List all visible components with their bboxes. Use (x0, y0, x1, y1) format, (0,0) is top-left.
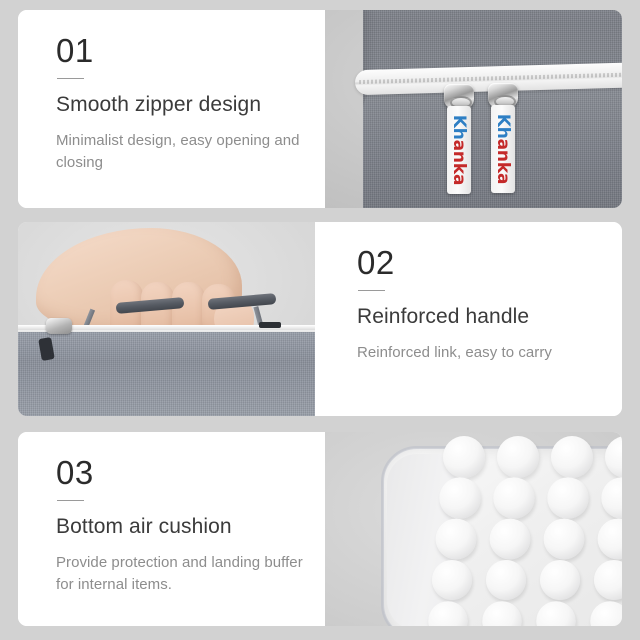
feature-card-01: 01 Smooth zipper design Minimalist desig… (18, 10, 622, 208)
hand-holding-handle-photo (18, 222, 315, 416)
air-cushion-bump-grid (443, 442, 622, 626)
air-cushion-bump (497, 436, 539, 478)
feature-infographic-page: 01 Smooth zipper design Minimalist desig… (0, 0, 640, 640)
brand-pull-tab-right: Khanka (491, 105, 515, 193)
handle-anchor-clip (259, 322, 281, 328)
case-fabric-body (18, 332, 315, 416)
brand-logo: Khanka (449, 115, 469, 185)
step-number: 03 (56, 456, 303, 489)
feature-subline: Reinforced link, easy to carry (357, 342, 600, 364)
air-cushion-bump (490, 519, 531, 560)
air-cushion-bump (493, 477, 534, 518)
feature-card-03: 03 Bottom air cushion Provide protection… (18, 432, 622, 626)
feature-text-02: 02 Reinforced handle Reinforced link, ea… (315, 222, 622, 416)
air-cushion-bump (590, 601, 622, 626)
air-cushion-bump (482, 601, 521, 626)
brand-logo: Khanka (493, 114, 513, 184)
air-cushion-bump (443, 436, 485, 478)
brand-blue-text: Kh (493, 114, 513, 139)
zipper-pulls-photo: Khanka Khanka (325, 10, 622, 208)
feature-headline: Smooth zipper design (56, 92, 303, 119)
divider-rule (57, 78, 84, 79)
step-number: 02 (357, 246, 600, 279)
air-cushion-bump (605, 436, 622, 478)
feature-text-03: 03 Bottom air cushion Provide protection… (18, 432, 325, 626)
air-cushion-bump (547, 477, 588, 518)
feature-headline: Bottom air cushion (56, 514, 303, 541)
brand-red-text: anka (493, 139, 513, 185)
divider-rule (57, 500, 84, 501)
air-cushion-bump (432, 560, 472, 600)
feature-subline: Minimalist design, easy opening and clos… (56, 130, 303, 174)
feature-card-02: 02 Reinforced handle Reinforced link, ea… (18, 222, 622, 416)
air-cushion-bump (598, 519, 622, 560)
air-cushion-bump (486, 560, 526, 600)
divider-rule (358, 290, 385, 291)
air-cushion-bump (594, 560, 622, 600)
air-cushion-bump (551, 436, 593, 478)
air-cushion-bump (439, 477, 480, 518)
zipper-slider (46, 318, 72, 334)
air-cushion-bump (601, 477, 622, 518)
step-number: 01 (56, 34, 303, 67)
feature-subline: Provide protection and landing buffer fo… (56, 552, 303, 596)
air-cushion-bump (544, 519, 585, 560)
air-cushion-bump (540, 560, 580, 600)
feature-text-01: 01 Smooth zipper design Minimalist desig… (18, 10, 325, 208)
air-cushion-interior-photo (325, 432, 622, 626)
brand-blue-text: Kh (449, 115, 469, 140)
brand-pull-tab-left: Khanka (447, 106, 471, 194)
feature-headline: Reinforced handle (357, 304, 600, 331)
air-cushion-bump (536, 601, 575, 626)
brand-red-text: anka (449, 140, 469, 186)
air-cushion-bump (436, 519, 477, 560)
